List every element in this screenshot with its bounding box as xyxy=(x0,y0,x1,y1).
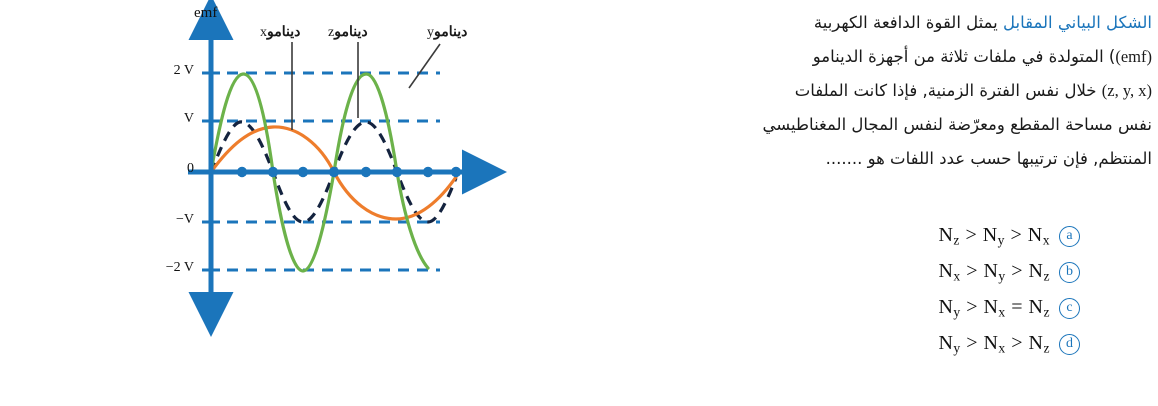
question-highlight: الشكل البياني المقابل xyxy=(1003,13,1152,32)
option-d[interactable]: d Ny > Nx > Nz xyxy=(750,326,1080,362)
option-a-formula: Nz > Ny > Nx xyxy=(938,224,1050,248)
option-c-bullet[interactable]: c xyxy=(1059,298,1080,319)
option-b-bullet[interactable]: b xyxy=(1059,262,1080,283)
answer-options: a Nz > Ny > Nx b Nx > Ny > Nz c Ny > Nx … xyxy=(750,218,1080,362)
question-line-3-rest: خلال نفس الفترة الزمنية, فإذا كانت الملف… xyxy=(795,81,1102,100)
option-a[interactable]: a Nz > Ny > Nx xyxy=(750,218,1080,254)
y-axis-title: emf xyxy=(194,5,217,22)
option-d-bullet[interactable]: d xyxy=(1059,334,1080,355)
emf-graph-svg xyxy=(140,0,560,406)
tick-label-neg-2v: −2 V xyxy=(140,260,194,276)
tick-label-2v: 2 V xyxy=(140,63,194,79)
question-line-4: نفس مساحة المقطع ومعرّضة لنفس المجال الم… xyxy=(592,108,1152,142)
emf-symbol: (emf) xyxy=(1115,47,1152,66)
curve-label-z: ديناموz xyxy=(328,23,368,41)
coil-symbols: (z, y, x) xyxy=(1102,81,1152,100)
option-b[interactable]: b Nx > Ny > Nz xyxy=(750,254,1080,290)
question-text: الشكل البياني المقابل يمثل القوة الدافعة… xyxy=(592,6,1152,176)
curve-label-x: ديناموx xyxy=(260,23,300,41)
question-line-2-rest: ) المتولدة في ملفات ثلاثة من أجهزة الدين… xyxy=(813,47,1116,66)
question-line-2: (emf)) المتولدة في ملفات ثلاثة من أجهزة … xyxy=(592,40,1152,74)
curve-label-x-arabic: دينامو xyxy=(267,23,300,39)
curve-label-y-latin: y xyxy=(427,25,434,40)
question-line-5: المنتظم, فإن ترتيبها حسب عدد اللفات هو .… xyxy=(592,142,1152,176)
option-d-formula: Ny > Nx > Nz xyxy=(938,332,1050,356)
tick-label-v: V xyxy=(140,111,194,127)
option-c-formula: Ny > Nx = Nz xyxy=(938,296,1050,320)
curve-label-z-arabic: دينامو xyxy=(334,23,367,39)
question-line-3: (z, y, x) خلال نفس الفترة الزمنية, فإذا … xyxy=(592,74,1152,108)
leader-line-y xyxy=(409,44,440,88)
option-a-bullet[interactable]: a xyxy=(1059,226,1080,247)
curve-label-y-arabic: دينامو xyxy=(434,23,467,39)
curve-label-x-latin: x xyxy=(260,25,267,40)
label-leader-lines xyxy=(292,42,440,130)
page-root: emf 2 V V 0 −V −2 V ديناموx ديناموz دينا… xyxy=(0,0,1158,406)
question-line-1: الشكل البياني المقابل يمثل القوة الدافعة… xyxy=(592,6,1152,40)
option-c[interactable]: c Ny > Nx = Nz xyxy=(750,290,1080,326)
tick-label-neg-v: −V xyxy=(140,212,194,228)
question-line-1-rest: يمثل القوة الدافعة الكهربية xyxy=(814,13,1003,32)
tick-label-0: 0 xyxy=(140,161,194,177)
emf-graph-figure: emf 2 V V 0 −V −2 V ديناموx ديناموz دينا… xyxy=(140,0,560,406)
curve-label-y: ديناموy xyxy=(427,23,467,41)
option-b-formula: Nx > Ny > Nz xyxy=(938,260,1050,284)
